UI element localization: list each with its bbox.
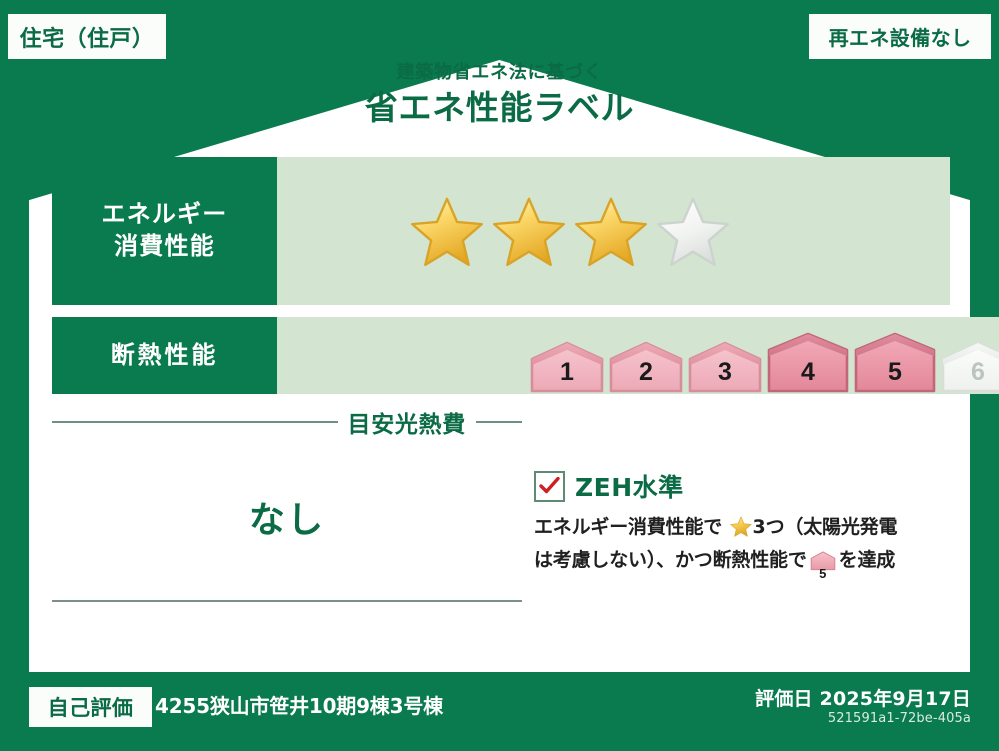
insulation-level-filled: 5 <box>853 331 937 394</box>
star-empty-icon <box>656 196 730 267</box>
insulation-level-filled: 1 <box>529 339 605 394</box>
utility-rule-left <box>52 421 338 423</box>
insulation-level-filled: 2 <box>608 339 684 394</box>
zeh-checkbox <box>534 471 565 502</box>
insulation-level-filled: 3 <box>687 339 763 394</box>
badge-self-evaluation: 自己評価 <box>29 687 152 727</box>
energy-label-line1: エネルギー <box>102 199 228 231</box>
check-icon <box>539 477 560 495</box>
evaluation-id: 521591a1-72be-405a <box>828 711 971 726</box>
insulation-level-filled: 4 <box>766 331 850 394</box>
star-filled-icon <box>574 196 648 267</box>
insulation-level-number: 2 <box>608 358 684 387</box>
zeh-standard-block: ZEH水準 エネルギー消費性能で 3つ（太陽光発電 は考慮しない）、かつ断熱性能… <box>534 468 954 581</box>
utility-bottom-divider <box>52 600 522 602</box>
insulation-level-scale: 1234567 <box>277 317 999 394</box>
star-icon <box>723 520 751 542</box>
utility-cost-header: 目安光熱費 <box>52 405 522 439</box>
badge-renewable-equipment: 再エネ設備なし <box>807 12 993 61</box>
zeh-header: ZEH水準 <box>534 468 954 504</box>
evaluation-date: 評価日 2025年9月17日 <box>755 684 971 711</box>
insulation-performance-row: 断熱性能 1234567 <box>52 317 950 394</box>
label-footer: 自己評価 4255狭山市笹井10期9棟3号棟 評価日 2025年9月17日 52… <box>0 672 999 751</box>
zeh-desc-line1-b: 3つ（太陽光発電 <box>753 516 898 538</box>
page-title: 省エネ性能ラベル <box>0 87 999 128</box>
energy-performance-label: エネルギー 消費性能 <box>52 157 277 305</box>
insulation-level-number: 5 <box>853 358 937 387</box>
utility-rule-right <box>476 421 522 423</box>
insulation-level-number: 1 <box>529 358 605 387</box>
building-name: 4255狭山市笹井10期9棟3号棟 <box>155 690 443 719</box>
insulation-level-number: 3 <box>687 358 763 387</box>
energy-label-root: 住宅（住戸） 再エネ設備なし 建築物省エネ法に基づく 省エネ性能ラベル エネルギ… <box>0 0 999 751</box>
zeh-desc-line2-b: を達成 <box>839 549 895 571</box>
energy-performance-row: エネルギー 消費性能 <box>52 157 950 305</box>
utility-cost-value: なし <box>52 491 522 543</box>
energy-label-line2: 消費性能 <box>114 231 215 263</box>
star-filled-icon <box>492 196 566 267</box>
insulation-badge-icon: 5 <box>810 551 836 580</box>
insulation-level-empty: 6 <box>940 339 999 394</box>
star-filled-icon <box>410 196 484 267</box>
energy-performance-value <box>277 157 950 305</box>
insulation-badge-number: 5 <box>810 567 836 580</box>
utility-cost-title: 目安光熱費 <box>348 405 466 439</box>
zeh-description: エネルギー消費性能で 3つ（太陽光発電 は考慮しない）、かつ断熱性能で <box>534 513 954 581</box>
insulation-performance-label: 断熱性能 <box>52 317 277 394</box>
label-title-block: 建築物省エネ法に基づく 省エネ性能ラベル <box>0 62 999 128</box>
zeh-title: ZEH水準 <box>575 468 684 504</box>
zeh-desc-line1-a: エネルギー消費性能で <box>534 516 722 538</box>
star-rating <box>277 196 730 267</box>
insulation-level-number: 6 <box>940 358 999 387</box>
title-subtitle: 建築物省エネ法に基づく <box>0 62 999 84</box>
insulation-level-number: 4 <box>766 358 850 387</box>
zeh-desc-line2-a: は考慮しない）、かつ断熱性能で <box>534 549 807 571</box>
insulation-performance-value: 1234567 <box>277 317 999 394</box>
badge-house-type: 住宅（住戸） <box>6 12 168 61</box>
utility-cost-section: 目安光熱費 なし <box>52 405 522 602</box>
